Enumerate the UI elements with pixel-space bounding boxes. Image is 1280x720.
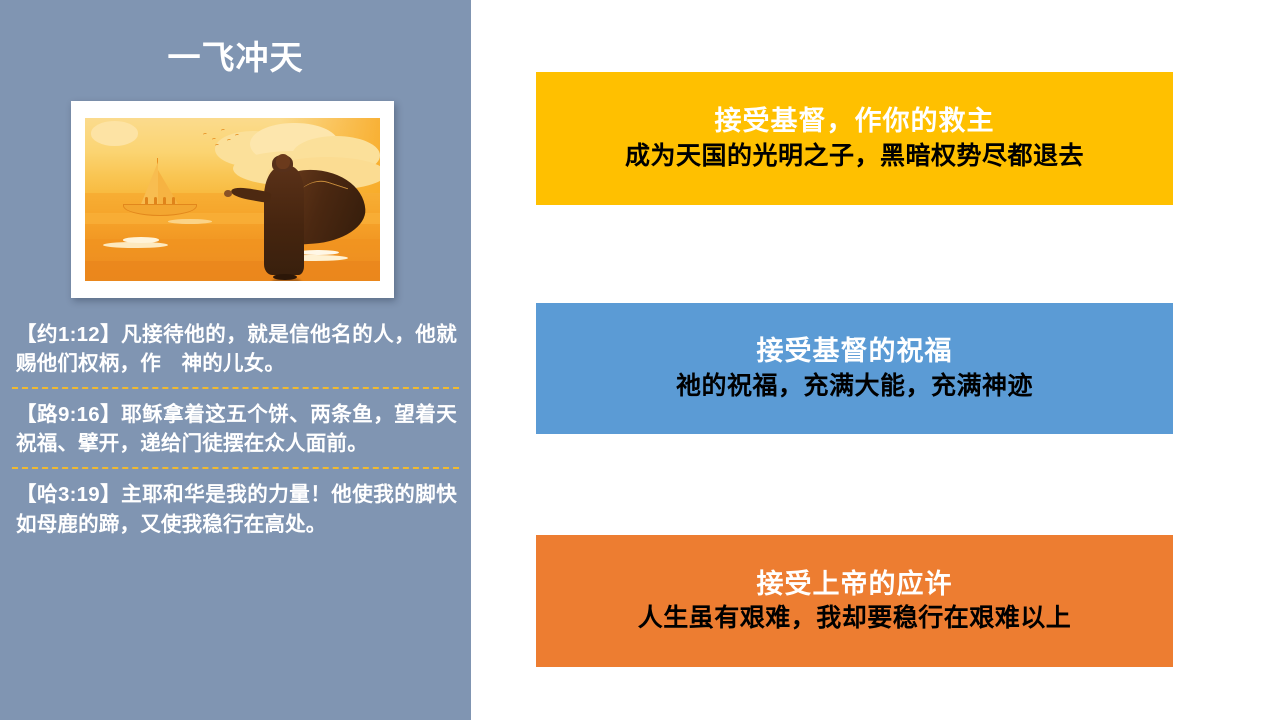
verse-divider (12, 467, 459, 469)
verse-list: 【约1:12】凡接待他的，就是信他名的人，他就赐他们权柄，作 神的儿女。 【路9… (0, 320, 471, 539)
foam (123, 237, 158, 243)
jesus-walking-on-water-image (85, 118, 380, 281)
card-title: 接受上帝的应许 (757, 568, 953, 602)
photo-frame (71, 101, 394, 298)
head (276, 154, 290, 169)
cloud-icon (91, 121, 138, 145)
verse-item: 【约1:12】凡接待他的，就是信他名的人，他就赐他们权柄，作 神的儿女。 (0, 320, 471, 378)
bird-icon (203, 132, 207, 136)
card-accept-christ-blessing: 接受基督的祝福 祂的祝福，充满大能，充满神迹 (536, 303, 1173, 434)
robe (264, 166, 304, 275)
foam (168, 219, 212, 224)
card-subtitle: 祂的祝福，充满大能，充满神迹 (676, 371, 1033, 402)
card-subtitle: 人生虽有艰难，我却要稳行在艰难以上 (638, 603, 1072, 634)
content-panel: 接受基督，作你的救主 成为天国的光明之子，黑暗权势尽都退去 接受基督的祝福 祂的… (471, 0, 1280, 720)
card-accept-gods-promise: 接受上帝的应许 人生虽有艰难，我却要稳行在艰难以上 (536, 535, 1173, 667)
sailboat-icon (123, 180, 197, 216)
card-subtitle: 成为天国的光明之子，黑暗权势尽都退去 (625, 141, 1084, 172)
bird-icon (215, 144, 219, 148)
card-accept-christ-savior: 接受基督，作你的救主 成为天国的光明之子，黑暗权势尽都退去 (536, 72, 1173, 205)
verse-item: 【路9:16】耶稣拿着这五个饼、两条鱼，望着天祝福、擘开，递给门徒摆在众人面前。 (0, 400, 471, 458)
card-title: 接受基督，作你的救主 (715, 105, 995, 139)
verse-divider (12, 387, 459, 389)
jesus-figure (247, 154, 365, 278)
hand (224, 190, 232, 197)
hull (123, 204, 197, 216)
bird-icon (212, 137, 216, 141)
page-title: 一飞冲天 (0, 38, 471, 78)
sidebar: 一飞冲天 (0, 0, 471, 720)
card-title: 接受基督的祝福 (757, 335, 953, 369)
verse-item: 【哈3:19】主耶和华是我的力量！他使我的脚快如母鹿的蹄，又使我稳行在高处。 (0, 480, 471, 538)
